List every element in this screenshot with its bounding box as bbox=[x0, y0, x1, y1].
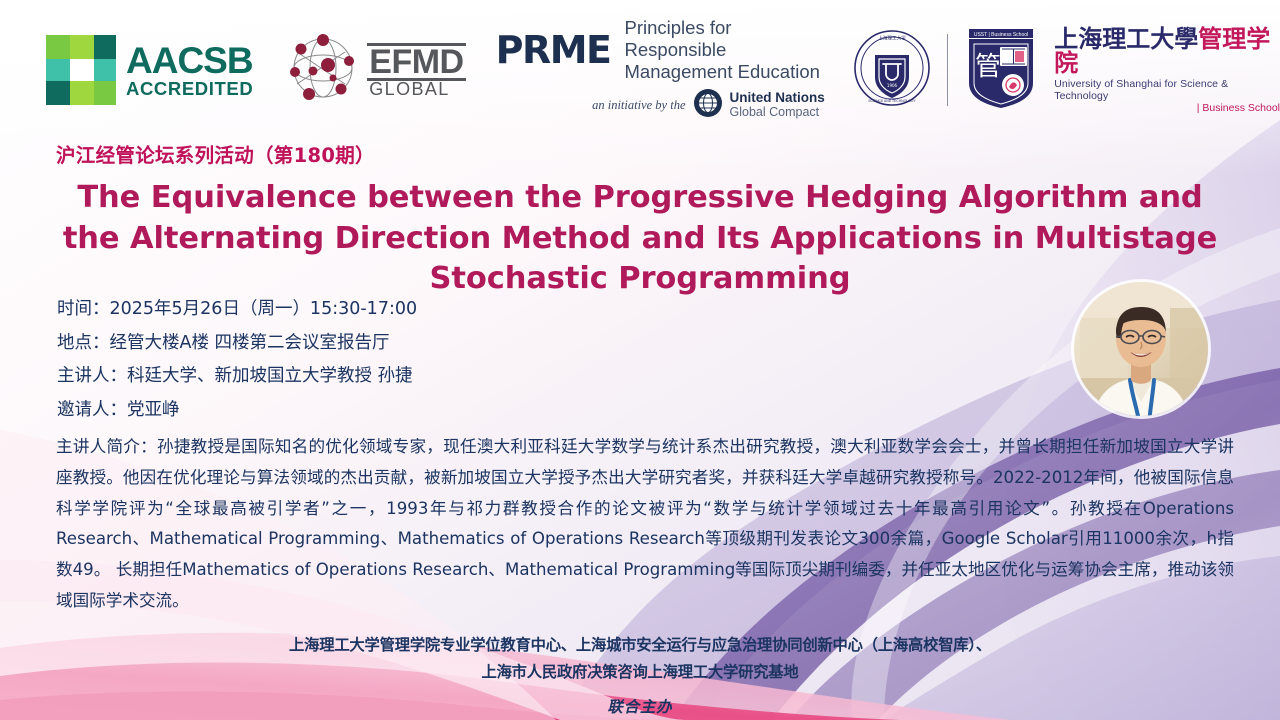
usst-seal-logo: 1906 上海理工大学 SCIENCE AND TECHNOLOGY bbox=[853, 29, 931, 112]
usst-business-school-shield-icon: USST | Business School 管 bbox=[964, 27, 1038, 114]
svg-text:上海理工大学: 上海理工大学 bbox=[878, 34, 906, 41]
speaker-portrait bbox=[1074, 282, 1208, 416]
prme-tagline-line2: Management Education bbox=[625, 61, 828, 83]
svg-text:USST | Business School: USST | Business School bbox=[974, 32, 1028, 38]
aacsb-accredited-label: ACCREDITED bbox=[126, 80, 253, 99]
accreditation-logo-bar: AACSB ACCREDITED bbox=[0, 24, 1280, 116]
usst-en-university-name: University of Shanghai for Science & Tec… bbox=[1054, 78, 1280, 102]
page-title: The Equivalence between the Progressive … bbox=[60, 178, 1220, 300]
un-name-line1: United Nations bbox=[730, 91, 825, 106]
efmd-global-label: GLOBAL bbox=[367, 81, 465, 98]
event-inviter: 邀请人：党亚峥 bbox=[57, 394, 417, 428]
event-details: 时间：2025年5月26日（周一）15:30-17:00 地点：经管大楼A楼 四… bbox=[57, 293, 417, 427]
organizers: 上海理工大学管理学院专业学位教育中心、上海城市安全运行与应急治理协同创新中心（上… bbox=[0, 632, 1280, 717]
un-global-compact-icon bbox=[693, 88, 723, 123]
aacsb-mark-icon bbox=[46, 35, 116, 105]
prme-tagline-line1: Principles for Responsible bbox=[625, 17, 828, 61]
co-host-label: 联合主办 bbox=[0, 695, 1280, 717]
usst-en-school-name: | Business School bbox=[1197, 102, 1280, 114]
event-time: 时间：2025年5月26日（周一）15:30-17:00 bbox=[57, 293, 417, 327]
aacsb-wordmark: AACSB bbox=[126, 42, 253, 79]
organizer-line-2: 上海市人民政府决策咨询上海理工大学研究基地 bbox=[0, 659, 1280, 686]
svg-text:1906: 1906 bbox=[887, 83, 898, 88]
prme-initiative-label: an initiative by the bbox=[592, 98, 685, 113]
usst-logos: 1906 上海理工大学 SCIENCE AND TECHNOLOGY USST … bbox=[853, 27, 1280, 114]
event-location: 地点：经管大楼A楼 四楼第二会议室报告厅 bbox=[57, 327, 417, 361]
speaker-biography: 主讲人简介：孙捷教授是国际知名的优化领域专家，现任澳大利亚科廷大学数学与统计系杰… bbox=[56, 432, 1234, 617]
aacsb-accredited-logo: AACSB ACCREDITED bbox=[46, 35, 253, 105]
organizer-line-1: 上海理工大学管理学院专业学位教育中心、上海城市安全运行与应急治理协同创新中心（上… bbox=[0, 632, 1280, 659]
efmd-global-logo: EFMD GLOBAL bbox=[287, 32, 465, 109]
prme-wordmark: PRME bbox=[496, 28, 611, 72]
svg-text:SCIENCE AND TECHNOLOGY: SCIENCE AND TECHNOLOGY bbox=[868, 99, 916, 103]
prme-logo: PRME Principles for Responsible Manageme… bbox=[496, 17, 828, 122]
series-label: 沪江经管论坛系列活动（第180期） bbox=[56, 139, 375, 168]
logo-divider bbox=[947, 34, 948, 106]
un-name-line2: Global Compact bbox=[730, 106, 825, 120]
efmd-network-icon bbox=[287, 32, 359, 109]
event-speaker: 主讲人：科廷大学、新加坡国立大学教授 孙捷 bbox=[57, 360, 417, 394]
svg-text:管: 管 bbox=[975, 52, 1001, 82]
efmd-wordmark: EFMD bbox=[367, 43, 465, 81]
